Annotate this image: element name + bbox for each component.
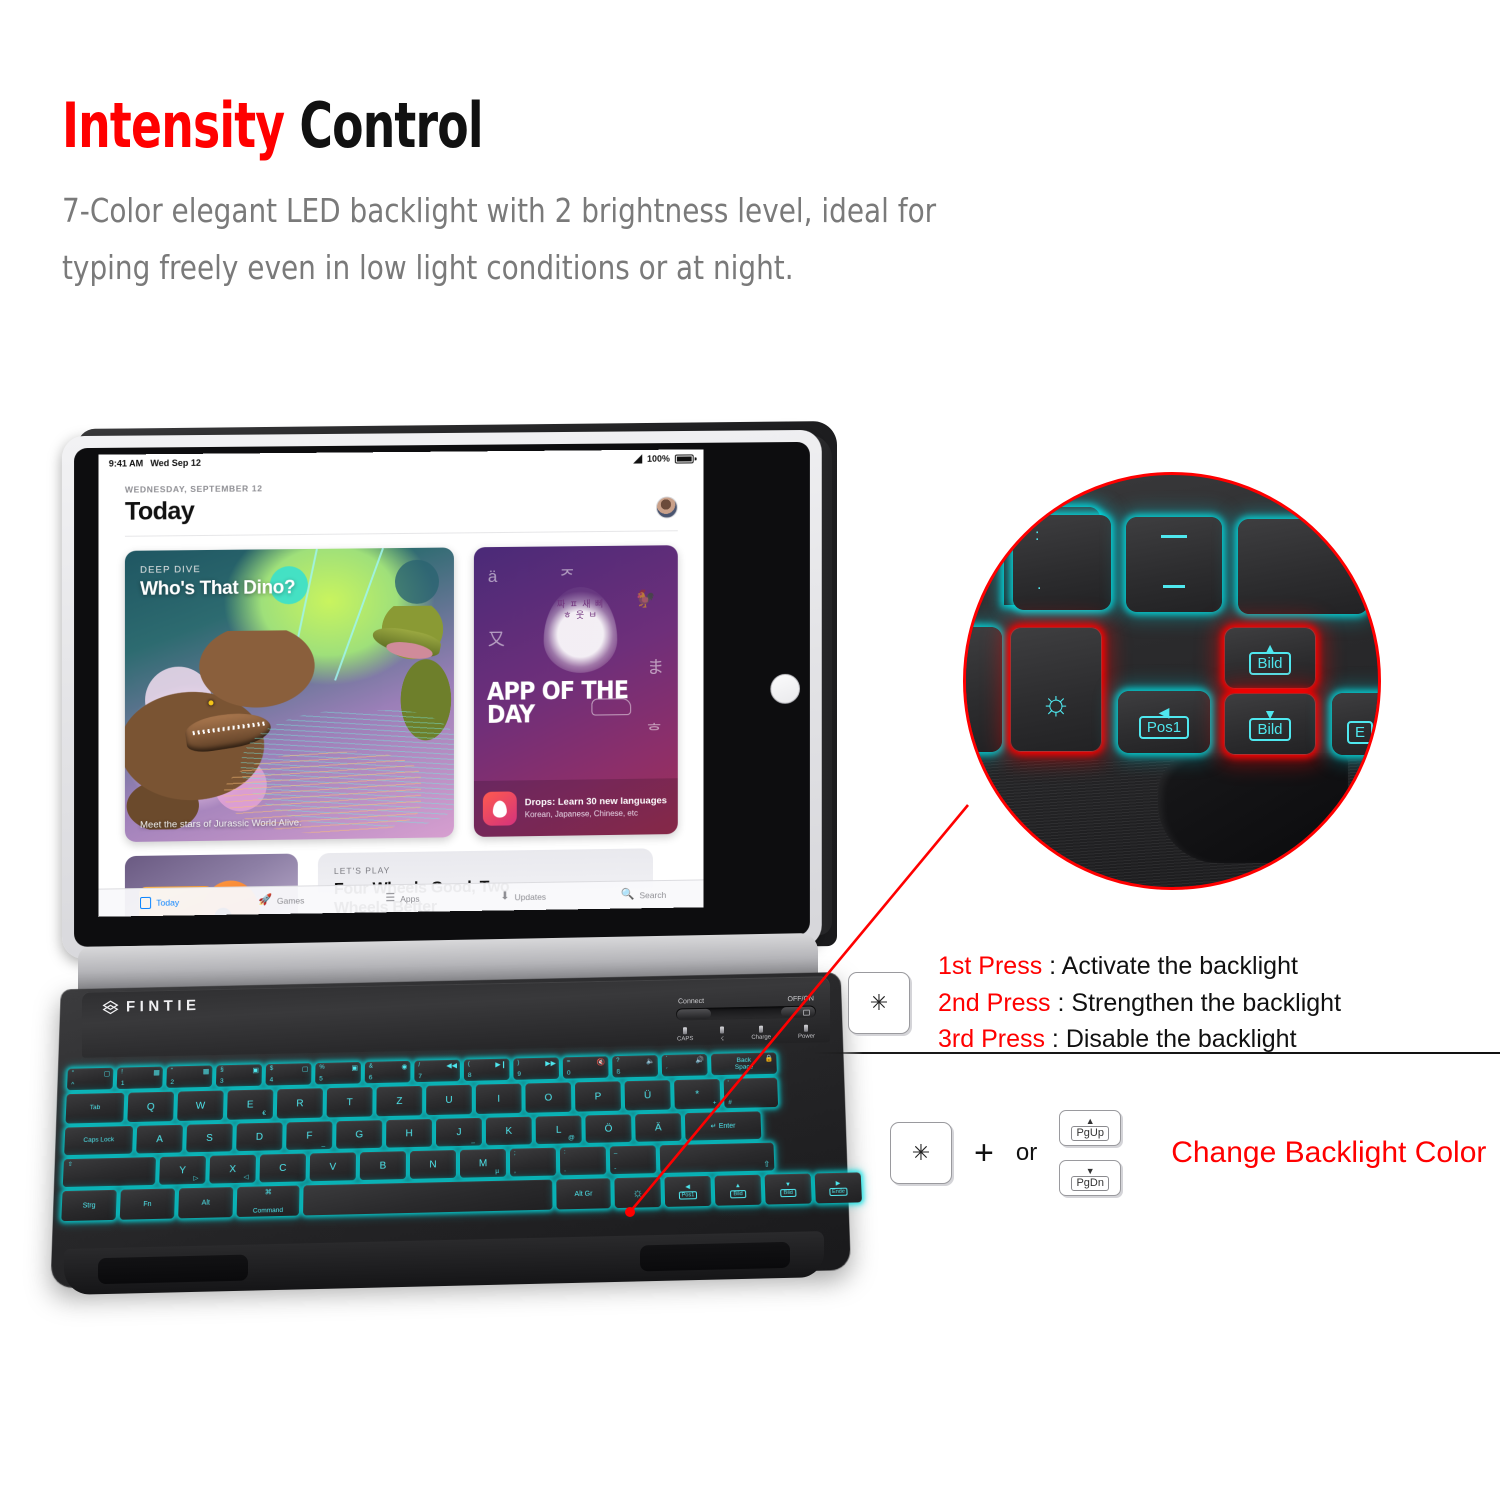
key-acute[interactable]: `´🔊 — [662, 1054, 708, 1076]
card-label: LET'S PLAY — [334, 861, 637, 876]
key-5[interactable]: %5▣ — [315, 1062, 361, 1084]
key-e[interactable]: E€ — [227, 1089, 273, 1119]
page-key-stack: ▲ PgUp ▼ PgDn — [1059, 1110, 1121, 1196]
key-label: Alt — [202, 1199, 210, 1206]
key-legend-bottom: - — [614, 1165, 616, 1172]
led-dot — [804, 1025, 808, 1032]
keyboard: FINTIE Connect OFF/ON CAPS ☇ Charge Powe… — [36, 940, 846, 1300]
rocket-icon: 🚀 — [258, 895, 272, 906]
battery-icon — [675, 454, 694, 463]
key-b[interactable]: B — [360, 1151, 406, 1180]
header-block: Intensity Control 7-Color elegant LED ba… — [62, 95, 1412, 297]
key-8[interactable]: (8▶❙ — [464, 1059, 510, 1081]
case-notch-right — [640, 1242, 790, 1272]
key-homing-bar: _ — [471, 1137, 475, 1144]
stack-icon: ☰ — [385, 893, 395, 904]
key-legend-top: % — [319, 1065, 324, 1071]
key-j[interactable]: J_ — [436, 1118, 482, 1147]
brand-logo: FINTIE — [102, 997, 201, 1016]
copy-icon: ◁ — [243, 1173, 248, 1181]
press-ordinal: 2nd Press — [938, 989, 1051, 1017]
key-legend-top: ! — [121, 1069, 123, 1075]
right-arrow-icon: ▶ — [836, 1181, 841, 1187]
glyph-chinese-you: 又 — [488, 625, 505, 650]
key-legend-bottom: 9 — [517, 1071, 521, 1078]
led-charge: Charge — [751, 1025, 771, 1041]
key-label: E — [247, 1099, 254, 1110]
key-u[interactable]: U — [426, 1085, 472, 1115]
power-switch-knob[interactable] — [781, 1007, 815, 1018]
key-label: Bild — [1249, 718, 1290, 741]
key-f[interactable]: F_ — [286, 1121, 332, 1150]
bluetooth-icon: ☇ — [720, 1035, 724, 1042]
press-ordinal: 1st Press — [938, 952, 1042, 980]
key-0[interactable]: =0🔇 — [563, 1056, 609, 1078]
wifi-icon: ◢ — [634, 453, 642, 464]
glyph-japanese-ma: ま — [647, 653, 664, 678]
key-r[interactable]: R — [277, 1088, 323, 1118]
key-p[interactable]: P — [575, 1081, 621, 1111]
magnifier-callout: : . ☼ ◀ Pos1 ▲ Bild ▼ Bil — [963, 472, 1381, 890]
key-d[interactable]: D — [236, 1122, 283, 1151]
app-name: Drops: Learn 30 new languages — [525, 795, 667, 808]
search-icon: 🔍 — [621, 889, 635, 900]
key-label: U — [445, 1094, 452, 1105]
home-icon: ▢ — [104, 1070, 111, 1078]
key-minus[interactable]: _- — [610, 1145, 657, 1174]
key-legend-bottom — [1163, 585, 1185, 588]
magnified-key-pos1[interactable]: ◀ Pos1 — [1118, 691, 1210, 753]
key-label: R — [296, 1098, 303, 1109]
key-label: J — [456, 1127, 461, 1138]
led-bluetooth: ☇ — [720, 1026, 724, 1042]
key-i[interactable]: I — [476, 1084, 522, 1114]
key-label: Command — [253, 1207, 283, 1215]
key-space[interactable] — [303, 1180, 553, 1216]
page-subtitle: 7-Color elegant LED backlight with 2 bri… — [62, 183, 1331, 297]
key-circumflex[interactable]: °^▢ — [67, 1068, 114, 1091]
magnified-key-underscore[interactable] — [1126, 517, 1222, 612]
backlight-icon: ✳ — [912, 1142, 930, 1164]
key-q[interactable]: Q — [127, 1092, 174, 1123]
cut-icon: ▷ — [193, 1174, 198, 1182]
key-legend-bottom: 5 — [319, 1076, 323, 1083]
key-legend-bottom: ^ — [71, 1081, 74, 1088]
switch-cluster: Connect OFF/ON CAPS ☇ Charge Power — [676, 996, 816, 1044]
key-label: H — [405, 1128, 412, 1139]
key-k[interactable]: K — [486, 1117, 532, 1146]
key-g[interactable]: G — [336, 1120, 382, 1149]
key-alt[interactable]: Alt — [178, 1187, 233, 1218]
command-icon: ⌘ — [265, 1188, 272, 1196]
key-legend-line-1: Back — [737, 1056, 752, 1063]
language-icon: ▣ — [252, 1066, 259, 1074]
press-separator: : — [1045, 1025, 1066, 1053]
key-strg[interactable]: Strg — [61, 1190, 117, 1221]
left-arrow-icon: ◀ — [685, 1185, 690, 1191]
indicator-leds: CAPS ☇ Charge Power — [676, 1025, 816, 1044]
play-pause-icon: ▶❙ — [495, 1061, 506, 1069]
led-label: Charge — [751, 1034, 771, 1040]
tab-today[interactable]: Today — [99, 895, 221, 909]
key-hash[interactable]: '# — [724, 1078, 779, 1109]
key-legend-top: _ — [614, 1148, 617, 1154]
key-legend-top: ( — [468, 1061, 470, 1067]
key-legend-line-2: Space — [735, 1064, 753, 1071]
key-3[interactable]: §3▣ — [216, 1064, 262, 1086]
key-label: M — [479, 1158, 487, 1169]
key-n[interactable]: N — [410, 1150, 456, 1179]
brightness-down-icon: ◉ — [401, 1063, 407, 1071]
status-time: 9:41 AM — [109, 458, 143, 468]
key-w[interactable]: W — [177, 1090, 224, 1120]
key-caps-lock[interactable]: Caps Lock — [64, 1126, 133, 1155]
decor-blob — [395, 559, 439, 603]
card-label: DEEP DIVE — [140, 564, 201, 576]
up-arrow-icon: ▲ — [735, 1183, 741, 1189]
key-eszett[interactable]: ?ß🔈 — [612, 1055, 658, 1077]
key-fn[interactable]: Fn — [120, 1188, 175, 1219]
key-label: D — [256, 1131, 263, 1142]
tab-updates[interactable]: ⬇ Updates — [463, 890, 584, 903]
magnified-key-bild-down[interactable]: ▼ Bild — [1224, 693, 1316, 755]
slideshow-icon: ▣ — [351, 1064, 358, 1072]
key-label: A — [156, 1134, 163, 1145]
tablet-screen: 9:41 AM Wed Sep 12 ◢ 100% WEDNESDAY, SEP… — [99, 449, 704, 916]
key-label: Bild — [730, 1190, 745, 1198]
or-label: or — [1016, 1139, 1037, 1167]
key-label: * — [695, 1089, 699, 1100]
key-legend-bottom: 8 — [468, 1072, 472, 1079]
key-legend-top: $ — [270, 1066, 273, 1072]
key-legend-top: ; — [514, 1151, 516, 1157]
key-sub-legend: µ — [495, 1168, 499, 1175]
download-icon: ⬇ — [500, 891, 509, 902]
key-1[interactable]: !1▦ — [117, 1067, 163, 1090]
card-row-primary: DEEP DIVE Who's That Dino? Meet the star… — [125, 545, 678, 842]
press-description: Strengthen the backlight — [1071, 989, 1341, 1017]
subtitle-line-1: 7-Color elegant LED backlight with 2 bri… — [62, 183, 1331, 240]
volume-down-icon: 🔈 — [646, 1057, 655, 1065]
key-legend-bottom: 2 — [170, 1079, 174, 1086]
key-tab[interactable]: Tab — [65, 1093, 124, 1124]
connect-switch-knob[interactable] — [677, 1009, 711, 1020]
tab-label: Search — [639, 889, 666, 899]
key-legend-top — [1161, 535, 1187, 538]
key-legend-bottom: . — [1037, 576, 1041, 594]
key-o[interactable]: O — [525, 1082, 571, 1112]
fintie-mark-icon — [102, 1000, 119, 1015]
key-label: L — [556, 1124, 562, 1135]
tab-games[interactable]: 🚀 Games — [221, 894, 342, 907]
key-legend-top: ) — [517, 1060, 519, 1066]
key-legend-top: ' — [728, 1081, 729, 1087]
app-icon — [483, 791, 517, 825]
key-6[interactable]: &6◉ — [365, 1061, 411, 1083]
tab-apps[interactable]: ☰ Apps — [342, 892, 463, 905]
key-period[interactable]: :. — [560, 1147, 606, 1176]
status-date: Wed Sep 12 — [150, 458, 201, 468]
shift-icon: ⇧ — [68, 1161, 73, 1168]
key-legend-bottom: , — [514, 1167, 516, 1174]
key-label: X — [229, 1164, 236, 1175]
led-caps: CAPS — [677, 1027, 693, 1043]
key-label: T — [347, 1097, 353, 1108]
shift-icon: ⇧ — [763, 1160, 770, 1169]
key-label: S — [206, 1132, 213, 1143]
key-legend-top: : — [1035, 529, 1039, 543]
title-highlight: Intensity — [62, 89, 284, 162]
key-legend-bottom: ß — [616, 1069, 620, 1076]
key-v[interactable]: V — [310, 1152, 356, 1181]
key-label: Caps Lock — [83, 1136, 114, 1144]
prev-track-icon: ◀◀ — [446, 1062, 457, 1070]
key-ende[interactable]: ▶Ende — [815, 1172, 862, 1203]
backlight-key-diagram[interactable]: ✳ — [890, 1122, 952, 1184]
key-label: I — [497, 1093, 500, 1104]
key-sub-legend: @ — [568, 1134, 575, 1141]
key-o-umlaut[interactable]: Ö — [585, 1114, 631, 1143]
volume-mute-icon: 🔇 — [597, 1058, 606, 1066]
key-label: C — [279, 1162, 286, 1173]
key-t[interactable]: T — [327, 1087, 373, 1117]
card-footer-text: Meet the stars of Jurassic World Alive. — [140, 817, 302, 830]
down-arrow-icon: ▼ — [785, 1182, 791, 1188]
magnified-key-shift-right[interactable] — [1238, 519, 1368, 614]
press-instruction-list: 1st Press : Activate the backlight 2nd P… — [938, 948, 1341, 1058]
key-a[interactable]: A — [136, 1125, 183, 1154]
key-sub-legend: + — [713, 1101, 717, 1107]
key-comma[interactable]: ;, — [510, 1148, 556, 1177]
press-instruction-row: 1st Press : Activate the backlight — [938, 948, 1341, 985]
key-label: Tab — [90, 1104, 101, 1112]
led-dot — [720, 1026, 724, 1033]
key-legend-bottom: # — [728, 1099, 732, 1106]
tab-label: Apps — [400, 893, 419, 903]
key-legend-bottom: 1 — [121, 1080, 125, 1087]
key-label: F — [306, 1130, 312, 1141]
key-label: Ü — [644, 1090, 651, 1101]
key-legend-bottom: ´ — [666, 1068, 668, 1075]
key-label: W — [196, 1100, 206, 1111]
subtitle-line-2: typing freely even in low light conditio… — [62, 240, 1331, 297]
key-alt-gr[interactable]: Alt Gr — [556, 1178, 611, 1209]
key-h[interactable]: H — [386, 1119, 432, 1148]
key-c[interactable]: C — [259, 1154, 306, 1183]
power-switch-label: OFF/ON — [788, 996, 814, 1004]
key-label: Pos1 — [1139, 716, 1189, 739]
key-label: E — [1347, 721, 1373, 744]
glyph-a-umlaut: ä — [488, 567, 497, 587]
switch-track[interactable] — [676, 1006, 816, 1021]
key-label: Bild — [1249, 652, 1290, 675]
key-label: Enter — [719, 1122, 736, 1129]
key-label: Q — [147, 1101, 155, 1112]
press-instructions: ✳ 1st Press : Activate the backlight 2nd… — [848, 948, 1341, 1058]
key-label: N — [429, 1159, 436, 1170]
tab-label: Updates — [515, 891, 547, 901]
key-legend-top: = — [567, 1059, 571, 1065]
key-label: Strg — [82, 1202, 95, 1209]
magnified-case-hinge — [1158, 753, 1348, 863]
lock-icon: 🔒 — [765, 1054, 774, 1062]
key-homing-bar: _ — [322, 1140, 326, 1147]
key-legend-top: " — [171, 1068, 173, 1074]
search-icon: ▦ — [153, 1069, 160, 1077]
key-label: PgUp — [1071, 1126, 1109, 1141]
key-label: Alt Gr — [574, 1190, 592, 1197]
glyph-korean-j: ᅎ — [560, 562, 576, 587]
magnified-keys: : . ☼ ◀ Pos1 ▲ Bild ▼ Bil — [966, 475, 1378, 887]
enter-icon: ↵ — [710, 1122, 716, 1130]
header-divider — [125, 530, 678, 537]
today-title: Today — [125, 497, 194, 527]
magnified-key-ende[interactable]: E — [1332, 693, 1381, 755]
backlight-icon: ☼ — [1040, 686, 1071, 720]
tab-label: Today — [156, 897, 179, 907]
key-label: PgDn — [1071, 1176, 1109, 1191]
key-legend-top: & — [369, 1064, 373, 1070]
next-track-icon: ▶▶ — [545, 1059, 556, 1067]
key-label: B — [380, 1160, 387, 1171]
led-label: CAPS — [677, 1036, 693, 1042]
key-label: Ä — [655, 1122, 662, 1133]
key-u-umlaut[interactable]: Ü — [625, 1080, 671, 1110]
key-s[interactable]: S — [186, 1124, 233, 1153]
key-label: K — [505, 1125, 512, 1136]
led-dot — [683, 1027, 687, 1034]
trex-eye — [208, 701, 213, 706]
led-label: Power — [798, 1034, 815, 1040]
key-shift-right[interactable]: ⇧ — [660, 1143, 775, 1173]
magnified-key-semicolon[interactable]: : . — [1013, 515, 1111, 610]
card-title: Who's That Dino? — [140, 577, 295, 601]
key-enter[interactable]: ↵ Enter — [685, 1111, 762, 1140]
key-pos1[interactable]: ◀Pos1 — [664, 1176, 711, 1207]
key-label: Bild — [781, 1189, 797, 1197]
pgdn-key-diagram[interactable]: ▼ PgDn — [1059, 1160, 1121, 1196]
key-backspace[interactable]: BackSpace🔒 — [711, 1052, 777, 1075]
key-x[interactable]: X◁ — [209, 1155, 256, 1184]
plus-symbol: + — [974, 1136, 994, 1170]
ipad-keyboard-case: 9:41 AM Wed Sep 12 ◢ 100% WEDNESDAY, SEP… — [20, 415, 840, 1315]
key-2[interactable]: "2▦ — [166, 1065, 212, 1087]
card-deep-dive[interactable]: DEEP DIVE Who's That Dino? Meet the star… — [125, 547, 454, 842]
key-m[interactable]: Mµ — [460, 1149, 506, 1178]
card-title: APP OF THE DAY — [487, 678, 678, 726]
key-legend-bottom: 4 — [270, 1077, 274, 1084]
key-bild-up[interactable]: ▲Bild — [715, 1175, 762, 1206]
key-label: Y — [179, 1165, 186, 1176]
key-bild-down[interactable]: ▼Bild — [765, 1174, 812, 1205]
rooster-icon: 🐓 — [635, 589, 656, 609]
key-9[interactable]: )9▶▶ — [513, 1057, 559, 1079]
down-arrow-icon: ▼ — [1086, 1167, 1095, 1175]
section-divider — [815, 1052, 1500, 1054]
key-legend-top: : — [564, 1149, 566, 1155]
press-description: Disable the backlight — [1066, 1025, 1297, 1053]
avatar[interactable] — [656, 496, 678, 518]
led-power: Power — [798, 1025, 815, 1041]
magnified-key-partial-altgr[interactable] — [963, 627, 1002, 752]
key-label: V — [329, 1161, 336, 1172]
press-separator: : — [1051, 989, 1072, 1017]
press-description: Activate the backlight — [1062, 952, 1298, 980]
key-legend-top: ? — [616, 1058, 619, 1064]
key-shift-left[interactable]: ⇧ — [63, 1157, 156, 1187]
drops-logo — [543, 586, 617, 673]
card-app-of-the-day[interactable]: ä ᅎ 又 ま ᄒ 🐓 APP OF THE DAY Drops: Learn … — [474, 545, 678, 837]
pgup-key-diagram[interactable]: ▲ PgUp — [1059, 1110, 1121, 1146]
screenshot-icon: ▢ — [302, 1065, 309, 1073]
car-icon — [591, 698, 631, 715]
key-legend-bottom: 0 — [567, 1070, 571, 1077]
key-legend-top: ` — [666, 1057, 668, 1063]
app-subtitle: Korean, Japanese, Chinese, etc — [525, 808, 667, 819]
app-footer: Drops: Learn 30 new languages Korean, Ja… — [474, 778, 678, 837]
key-label: Pos1 — [679, 1191, 698, 1199]
color-change-instructions: ✳ + or ▲ PgUp ▼ PgDn Change Backlight Co… — [890, 1110, 1486, 1196]
page-title: Intensity Control — [62, 95, 1169, 157]
key-sub-legend: € — [262, 1110, 266, 1117]
up-arrow-icon: ▲ — [1086, 1117, 1095, 1125]
key-7[interactable]: /7◀◀ — [414, 1060, 460, 1082]
key-label: O — [544, 1092, 552, 1103]
key-command[interactable]: ⌘Command — [237, 1186, 300, 1218]
backlight-key-diagram[interactable]: ✳ — [848, 972, 910, 1034]
key-legend-bottom: 3 — [220, 1078, 224, 1085]
brand-name: FINTIE — [126, 997, 201, 1016]
key-label: G — [355, 1129, 363, 1140]
key-label: P — [595, 1091, 602, 1102]
backlight-icon: ☼ — [632, 1185, 643, 1199]
key-legend-bottom: . — [564, 1166, 566, 1173]
case-notch-left — [98, 1255, 248, 1285]
connect-switch-label: Connect — [678, 998, 704, 1006]
key-l[interactable]: L@ — [536, 1116, 582, 1145]
tab-search[interactable]: 🔍 Search — [583, 888, 703, 901]
press-ordinal: 3rd Press — [938, 1025, 1045, 1053]
app-store-today-page: WEDNESDAY, SEPTEMBER 12 Today — [99, 467, 704, 916]
magnified-backlight-key[interactable]: ☼ — [1010, 627, 1102, 752]
press-separator: : — [1042, 952, 1061, 980]
key-4[interactable]: $4▢ — [266, 1063, 312, 1085]
today-header: Today — [125, 492, 678, 526]
key-label: Z — [396, 1096, 402, 1107]
key-legend-bottom: 7 — [418, 1073, 422, 1080]
press-instruction-row: 2nd Press : Strengthen the backlight — [938, 985, 1341, 1022]
key-label: Ö — [605, 1123, 613, 1134]
battery-percent: 100% — [647, 454, 670, 464]
volume-up-icon: 🔊 — [696, 1056, 705, 1064]
change-color-label: Change Backlight Color — [1171, 1136, 1486, 1170]
led-dot — [759, 1026, 763, 1033]
key-label: Ende — [829, 1187, 848, 1195]
key-y[interactable]: Y▷ — [159, 1156, 206, 1185]
magnified-key-bild-up[interactable]: ▲ Bild — [1224, 627, 1316, 689]
key-a-umlaut[interactable]: Ä — [635, 1113, 681, 1142]
key-legend-bottom: 6 — [369, 1074, 373, 1081]
title-rest: Control — [284, 89, 482, 162]
key-plus[interactable]: *+ — [674, 1079, 720, 1109]
backlight-key[interactable]: ☼ — [614, 1177, 661, 1208]
key-z[interactable]: Z — [376, 1086, 422, 1116]
today-icon — [140, 896, 151, 908]
keyboard-icon: ▦ — [203, 1067, 210, 1075]
key-legend-top: / — [418, 1063, 420, 1069]
key-legend-top: ° — [72, 1071, 75, 1077]
key-label: Fn — [143, 1200, 151, 1207]
